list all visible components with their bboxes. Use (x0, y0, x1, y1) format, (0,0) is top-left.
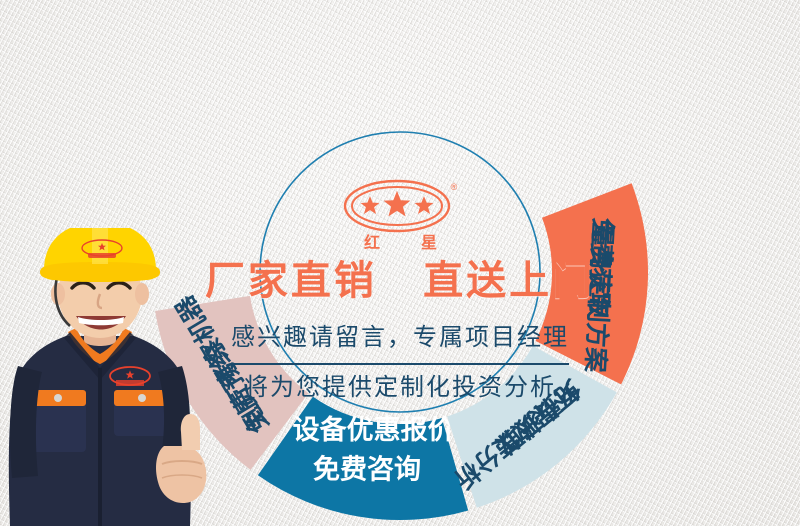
logo-mark: ® 红 星 (337, 178, 463, 252)
subtext-block: 感兴趣请留言，专属项目经理 将为您提供定制化投资分析 (182, 320, 618, 406)
subtext-line-1: 感兴趣请留言，专属项目经理 (182, 320, 618, 356)
logo-registered-icon: ® (451, 182, 458, 192)
worker-hard-hat (40, 228, 160, 282)
headline-part-2: 直送上门 (423, 259, 595, 303)
smiling-worker-thumbs-up (4, 228, 216, 526)
subtext-line-2: 将为您提供定制化投资分析 (182, 370, 618, 406)
segment-2-line-1: 免费咨询 (313, 454, 421, 484)
page-title: 厂家直销 直送上门 (182, 260, 618, 302)
headline-part-1: 厂家直销 (205, 259, 377, 303)
worker-uniform (9, 328, 191, 526)
logo-text-xing: 星 (421, 234, 438, 252)
center-content: ® 红 星 厂家直销 直送上门 感兴趣请留言，专属项目经理 将为您提供定制化投资… (182, 178, 618, 440)
logo-three-stars (361, 191, 434, 216)
subtext-divider (231, 363, 569, 365)
poster-canvas: 免费预约到厂考察机器 免费咨询设备优惠报价 免费获取环保政策分析 免费获取量身定… (0, 0, 800, 526)
hongxing-logo: ® 红 星 (337, 178, 463, 252)
logo-text-hong: 红 (364, 233, 381, 252)
